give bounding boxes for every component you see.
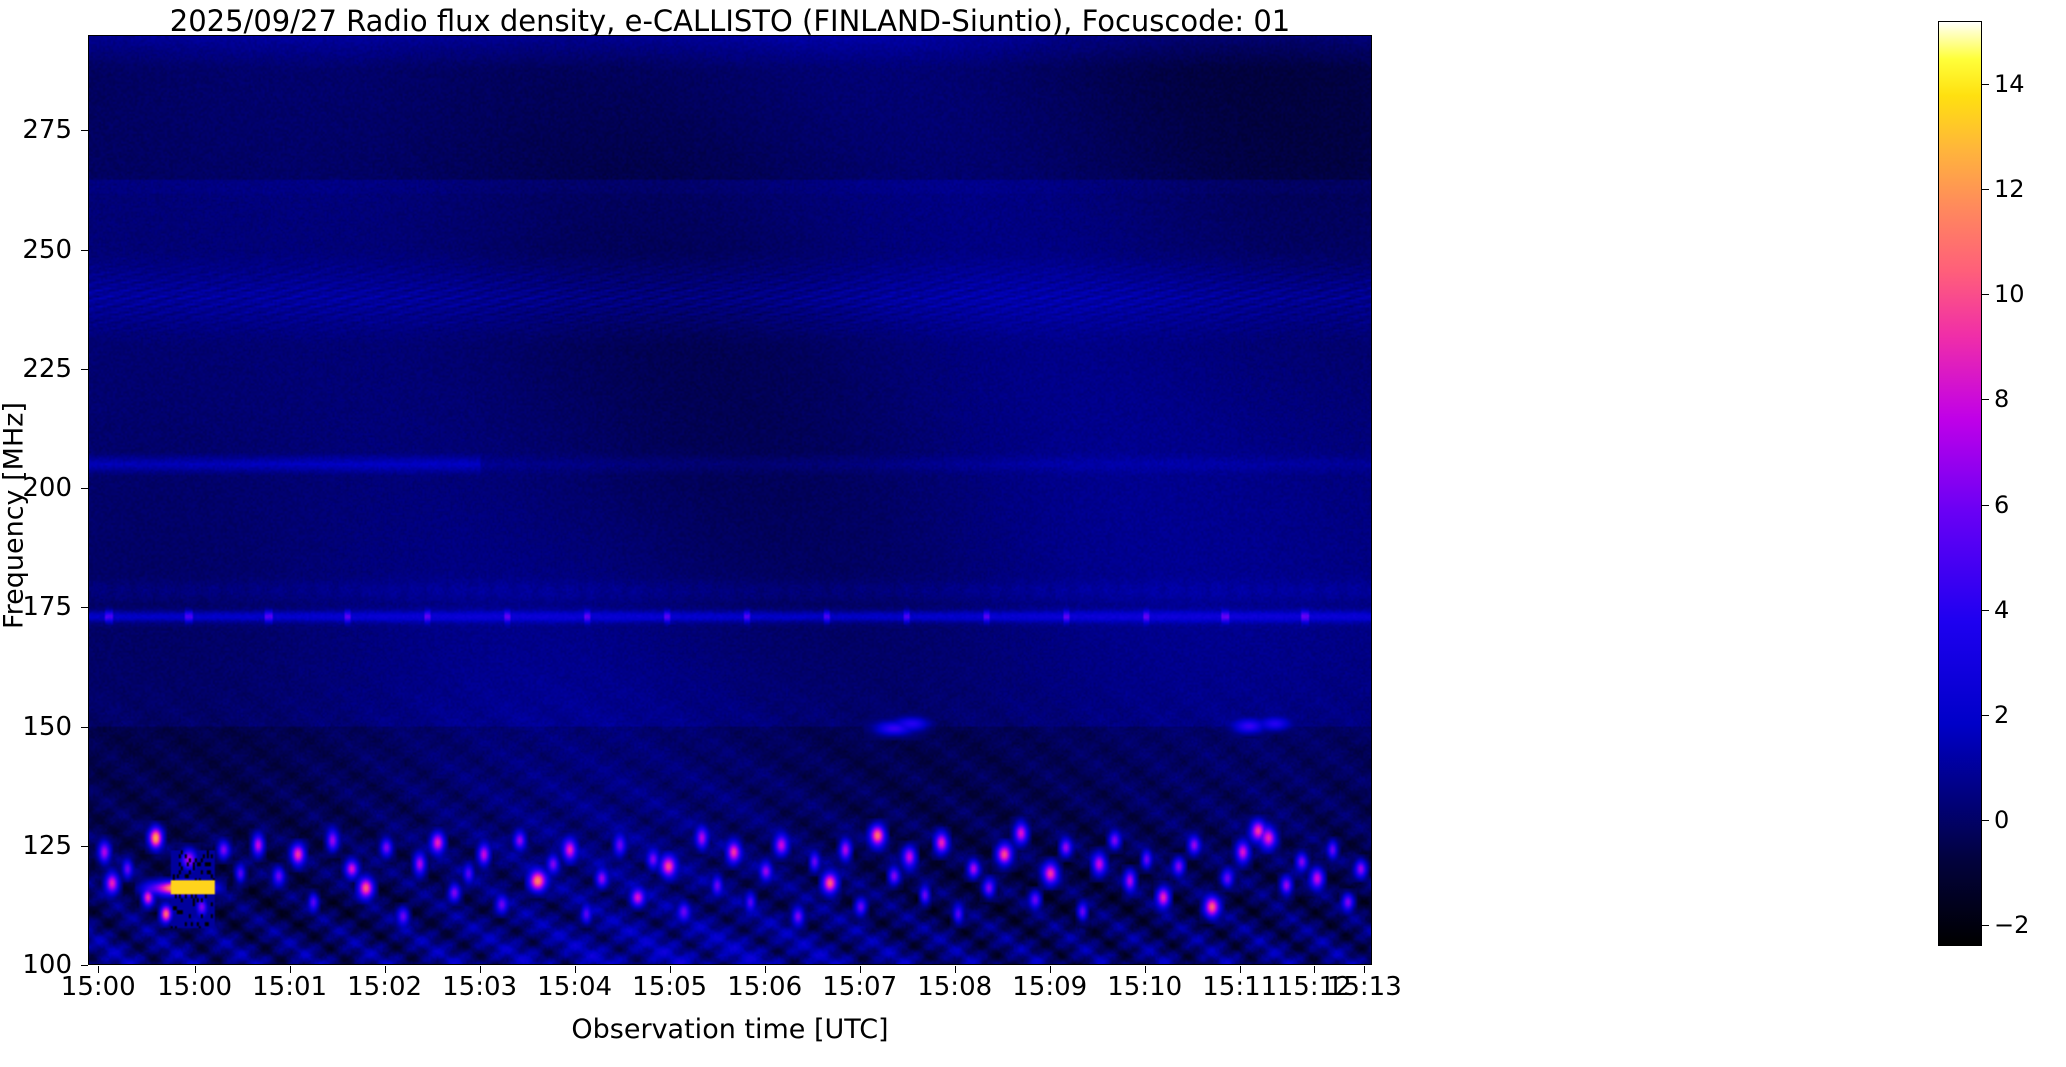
- colorbar-tick-mark: [1982, 715, 1989, 716]
- y-tick-mark: [81, 488, 88, 489]
- colorbar-tick-mark: [1982, 505, 1989, 506]
- y-tick-label: 150: [0, 712, 72, 742]
- colorbar-gradient: [1939, 22, 1981, 945]
- x-tick-label: 15:02: [347, 972, 422, 1002]
- y-tick-label: 200: [0, 473, 72, 503]
- x-tick-label: 15:01: [252, 972, 327, 1002]
- y-tick-label: 125: [0, 831, 72, 861]
- colorbar-tick-label: 10: [1994, 280, 2025, 308]
- colorbar-tick-label: −2: [1994, 911, 2029, 939]
- colorbar-tick-mark: [1982, 610, 1989, 611]
- colorbar-tick-label: 2: [1994, 701, 2009, 729]
- colorbar-tick-mark: [1982, 294, 1989, 295]
- y-tick-mark: [81, 965, 88, 966]
- colorbar-tick-label: 6: [1994, 491, 2009, 519]
- colorbar-tick-mark: [1982, 820, 1989, 821]
- colorbar-tick-mark: [1982, 925, 1989, 926]
- x-axis-label: Observation time [UTC]: [88, 1014, 1372, 1045]
- colorbar: [1938, 21, 1982, 946]
- x-tick-label: 15:05: [632, 972, 707, 1002]
- y-tick-label: 250: [0, 235, 72, 265]
- colorbar-tick-label: 4: [1994, 596, 2009, 624]
- colorbar-tick-label: 12: [1994, 175, 2025, 203]
- y-tick-mark: [81, 250, 88, 251]
- y-tick-mark: [81, 369, 88, 370]
- x-tick-label: 15:10: [1107, 972, 1182, 1002]
- x-tick-label: 15:06: [727, 972, 802, 1002]
- x-tick-label: 15:03: [442, 972, 517, 1002]
- y-tick-label: 225: [0, 354, 72, 384]
- y-tick-mark: [81, 607, 88, 608]
- x-tick-label: 15:00: [61, 972, 136, 1002]
- x-tick-label: 15:00: [157, 972, 232, 1002]
- colorbar-tick-mark: [1982, 399, 1989, 400]
- x-tick-label: 15:13: [1327, 972, 1402, 1002]
- colorbar-tick-label: 8: [1994, 385, 2009, 413]
- spectrogram-axes: [88, 35, 1372, 965]
- colorbar-tick-mark: [1982, 84, 1989, 85]
- y-tick-mark: [81, 727, 88, 728]
- colorbar-tick-label: 14: [1994, 70, 2025, 98]
- y-tick-mark: [81, 130, 88, 131]
- spectrogram-figure: 2025/09/27 Radio flux density, e-CALLIST…: [0, 0, 2066, 1067]
- x-tick-label: 15:07: [822, 972, 897, 1002]
- colorbar-tick-label: 0: [1994, 806, 2009, 834]
- page-title: 2025/09/27 Radio flux density, e-CALLIST…: [88, 4, 1372, 38]
- x-tick-label: 15:11: [1202, 972, 1277, 1002]
- y-tick-mark: [81, 846, 88, 847]
- x-tick-label: 15:08: [917, 972, 992, 1002]
- x-tick-label: 15:09: [1012, 972, 1087, 1002]
- x-tick-label: 15:04: [537, 972, 612, 1002]
- y-tick-label: 275: [0, 115, 72, 145]
- y-tick-label: 175: [0, 592, 72, 622]
- colorbar-tick-mark: [1982, 189, 1989, 190]
- spectrogram-image: [89, 36, 1371, 964]
